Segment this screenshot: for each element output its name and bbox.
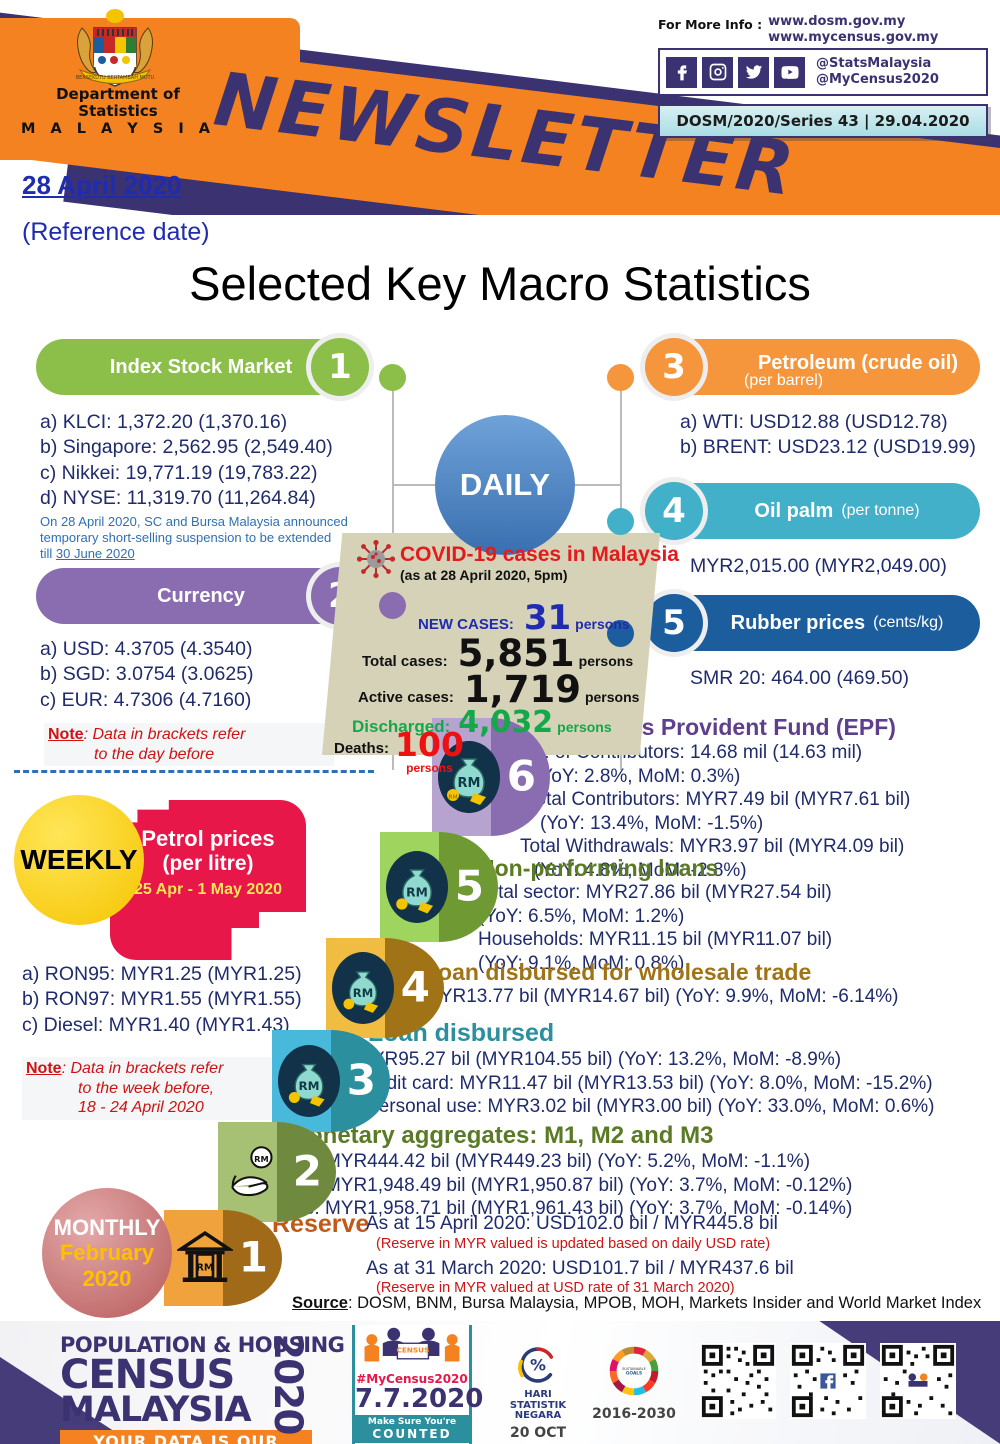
monthly-year: 2020 — [83, 1266, 132, 1291]
step-values-monetary: M1: MYR444.42 bil (MYR449.23 bil) (YoY: … — [288, 1150, 938, 1221]
step-heading-wholesale: Loan disbursed for wholesale trade — [424, 959, 811, 986]
page-title: Selected Key Macro Statistics — [0, 256, 1000, 311]
covid-unit: persons — [579, 653, 633, 669]
covid-title: COVID-19 cases in Malaysia — [400, 543, 679, 567]
card-subtitle-petroleum: (per barrel) — [744, 373, 823, 389]
svg-text:%: % — [530, 1355, 546, 1374]
social-media-box: @StatsMalaysia @MyCensus2020 — [658, 48, 988, 96]
sdg-wheel-icon: SUSTAINABLE GOALS — [608, 1345, 660, 1397]
petrol-period: 25 Apr - 1 May 2020 — [134, 881, 282, 899]
source-label: Source — [292, 1294, 348, 1312]
svg-text:RM: RM — [458, 776, 481, 791]
stat-line: SMR 20: 464.00 (469.50) — [690, 666, 1000, 691]
qr-code-facebook[interactable] — [790, 1343, 866, 1419]
covid-unit: persons — [585, 689, 639, 705]
money-bag-icon: RM — [332, 952, 394, 1024]
census-logo: POPULATION & HOUSING CENSUS MALAYSIA YOU… — [60, 1333, 360, 1444]
petrol-title: Petrol prices — [141, 826, 274, 852]
qr-code-dosm[interactable] — [700, 1343, 776, 1419]
monthly-label-circle: MONTHLY February 2020 — [42, 1188, 172, 1318]
note-text-line2: to the week before, — [78, 1079, 298, 1099]
covid-label: Active cases: — [358, 689, 454, 706]
source-line: Source: DOSM, BNM, Bursa Malaysia, MPOB,… — [292, 1294, 981, 1313]
mycensus-date: 7.7.2020 — [355, 1386, 469, 1412]
handle-statsmalaysia: @StatsMalaysia — [816, 56, 939, 72]
badge-3: 3 — [640, 333, 708, 401]
hari-line-3: NEGARA — [498, 1411, 578, 1422]
card-title-rubber: Rubber prices — [731, 612, 865, 635]
step-values-reserve: As at 15 April 2020: USD102.0 bil / MYR4… — [366, 1212, 986, 1298]
note-text-line1: Data in brackets refer — [92, 726, 245, 743]
step-4-wholesale-loan[interactable]: RM 4 — [326, 938, 444, 1038]
footnote-short-selling: On 28 April 2020, SC and Bursa Malaysia … — [40, 514, 390, 562]
counted-text: COUNTED — [357, 1427, 467, 1441]
monthly-label: MONTHLY — [54, 1215, 161, 1240]
stat-line: a) RON95: MYR1.25 (MYR1.25) — [22, 962, 362, 987]
source-text: : DOSM, BNM, Bursa Malaysia, MPOB, MOH, … — [348, 1294, 981, 1312]
more-info-block: For More Info : www.dosm.gov.my www.myce… — [658, 14, 988, 47]
malaysia-coat-of-arms-icon: BERSEKUTU BERTAMBAH MUTU — [52, 8, 178, 96]
money-bag-icon: RM — [386, 851, 448, 923]
step-number-4: 4 — [401, 963, 430, 1012]
step-number-1: 1 — [239, 1233, 268, 1282]
connector-dot-2 — [379, 592, 406, 619]
step-heading-npl: Non-performing loans — [478, 855, 718, 882]
covid-value: 100 — [395, 728, 464, 761]
step-5-npl[interactable]: RM 5 — [380, 832, 498, 942]
covid-unit: persons — [557, 719, 611, 735]
card-subtitle-oil-palm: (per tonne) — [841, 502, 919, 520]
youtube-icon[interactable] — [774, 57, 805, 88]
infographic-page: NEWSLETTER BERSEKUTU BERTAMBAH MUTU Depa… — [0, 0, 1000, 1444]
stat-line: (YoY: 2.8%, MoM: 0.3%) — [534, 765, 1000, 789]
stat-line: Credit card: MYR11.47 bil (MYR13.53 bil)… — [356, 1072, 976, 1096]
footnote-line: temporary short-selling suspension to be… — [40, 530, 390, 546]
svg-text:CENSUS: CENSUS — [396, 1345, 429, 1354]
note-text-line2: to the day before — [94, 745, 330, 765]
sdg-date-range: 2016-2030 — [588, 1406, 680, 1422]
footnote-line: till 30 June 2020 — [40, 546, 390, 562]
handle-mycensus2020: @MyCensus2020 — [816, 72, 939, 88]
svg-text:RM: RM — [448, 794, 457, 801]
badge-1: 1 — [306, 333, 374, 401]
step-number-2: 2 — [293, 1147, 322, 1196]
url-dosm[interactable]: www.dosm.gov.my — [768, 14, 905, 29]
census-line-3: MALAYSIA — [60, 1394, 360, 1427]
values-petrol: a) RON95: MYR1.25 (MYR1.25) b) RON97: MY… — [22, 962, 362, 1038]
note-daily: Note: Data in brackets refer to the day … — [44, 723, 334, 766]
footnote-line: On 28 April 2020, SC and Bursa Malaysia … — [40, 514, 390, 530]
series-badge: DOSM/2020/Series 43 | 29.04.2020 — [658, 104, 988, 138]
stat-line: As at 31 March 2020: USD101.7 bil / MYR4… — [366, 1257, 986, 1281]
covid-unit: persons — [575, 616, 629, 632]
mycensus-badge: CENSUS #MyCensus2020 7.7.2020 Make Sure … — [352, 1325, 472, 1444]
svg-text:GOALS: GOALS — [626, 1370, 642, 1376]
card-subtitle-rubber: (cents/kg) — [873, 614, 943, 632]
svg-text:RM: RM — [196, 1262, 213, 1273]
svg-text:BERSEKUTU BERTAMBAH MUTU: BERSEKUTU BERTAMBAH MUTU — [76, 75, 155, 81]
facebook-icon[interactable] — [666, 57, 697, 88]
covid-label: NEW CASES: — [418, 616, 514, 633]
petrol-subtitle: (per litre) — [162, 852, 253, 876]
stat-line: Total Contributors: MYR7.49 bil (MYR7.61… — [526, 788, 1000, 812]
stat-line: M1: MYR444.42 bil (MYR449.23 bil) (YoY: … — [288, 1150, 938, 1174]
card-currency[interactable]: Currency 2 — [36, 568, 366, 624]
card-index-stock-market[interactable]: Index Stock Market 1 — [36, 339, 366, 395]
card-oil-palm[interactable]: Oil palm (per tonne) 4 — [648, 483, 980, 539]
bank-icon: RM — [174, 1222, 236, 1294]
coronavirus-icon — [356, 539, 396, 579]
stat-line: MYR13.77 bil (MYR14.67 bil) (YoY: 9.9%, … — [424, 985, 984, 1009]
svg-text:RM: RM — [298, 1079, 319, 1093]
footer-banner: POPULATION & HOUSING CENSUS MALAYSIA YOU… — [0, 1318, 1000, 1444]
stat-line: MYR95.27 bil (MYR104.55 bil) (YoY: 13.2%… — [356, 1048, 976, 1072]
stat-line: MYR2,015.00 (MYR2,049.00) — [690, 554, 1000, 579]
percent-circle-icon: % — [507, 1345, 569, 1385]
step-number-3: 3 — [347, 1056, 376, 1105]
census-people-icon: CENSUS — [357, 1325, 467, 1367]
connector-dot-4 — [607, 508, 634, 535]
monthly-month: February — [60, 1240, 154, 1265]
hand-money-icon: RM — [224, 1136, 286, 1208]
covid-label: Deaths: — [334, 728, 389, 757]
stat-line: Households: MYR11.15 bil (MYR11.07 bil) — [478, 928, 978, 952]
note-weekly: Note: Data in brackets refer to the week… — [22, 1057, 302, 1120]
twitter-icon[interactable] — [738, 57, 769, 88]
org-name: Department of Statistics M A L A Y S I A — [18, 86, 218, 137]
step-number-6: 6 — [507, 752, 536, 801]
step-values-loan-disbursed: MYR95.27 bil (MYR104.55 bil) (YoY: 13.2%… — [356, 1048, 976, 1119]
covid-subtitle: (as at 28 April 2020, 5pm) — [400, 567, 568, 583]
values-oil-palm: MYR2,015.00 (MYR2,049.00) — [690, 554, 1000, 579]
hari-line-1: HARI — [498, 1390, 578, 1401]
social-handles: @StatsMalaysia @MyCensus2020 — [816, 56, 939, 89]
card-title-oil-palm: Oil palm — [754, 500, 833, 523]
website-urls: www.dosm.gov.my www.mycensus.gov.my — [768, 14, 938, 47]
stat-line: (YoY: 6.5%, MoM: 1.2%) — [478, 905, 978, 929]
url-mycensus[interactable]: www.mycensus.gov.my — [768, 30, 938, 45]
svg-text:SUSTAINABLE: SUSTAINABLE — [622, 1367, 646, 1371]
note-text-line1: Data in brackets refer — [70, 1060, 223, 1077]
daily-label-circle: DAILY — [435, 415, 575, 555]
weekly-label-circle: WEEKLY — [14, 795, 144, 925]
footnote-till: till — [40, 546, 56, 561]
connector-dot-1 — [379, 364, 406, 391]
svg-text:RM: RM — [406, 885, 428, 899]
stat-line: b) BRENT: USD23.12 (USD19.99) — [680, 435, 1000, 460]
stat-note-red: (Reserve in MYR valued is updated based … — [376, 1236, 986, 1254]
census-year: 2020 — [265, 1333, 310, 1434]
stat-line: Personal use: MYR3.02 bil (MYR3.00 bil) … — [366, 1095, 976, 1119]
covid-unit: persons — [406, 761, 453, 775]
stat-line: a) WTI: USD12.88 (USD12.78) — [680, 410, 1000, 435]
values-petroleum: a) WTI: USD12.88 (USD12.78) b) BRENT: US… — [680, 410, 1000, 461]
covid-row-deaths: Deaths: 100 persons — [334, 728, 464, 775]
note-text-line3: 18 - 24 April 2020 — [78, 1098, 298, 1118]
connector-dot-3 — [607, 364, 634, 391]
qr-code-census[interactable] — [880, 1343, 956, 1419]
card-title-petroleum: Petroleum (crude oil) — [758, 353, 958, 373]
org-name-line1: Department of Statistics — [18, 86, 218, 121]
covid-value: 4,032 — [458, 705, 553, 740]
note-label: Note — [26, 1060, 62, 1077]
reference-date: 28 April 2020 — [22, 170, 181, 201]
org-name-line2: M A L A Y S I A — [18, 121, 218, 138]
step-3-loan-disbursed[interactable]: RM 3 — [272, 1030, 390, 1132]
note-label: Note — [48, 726, 84, 743]
stat-line: a) KLCI: 1,372.20 (1,370.16) — [40, 410, 380, 435]
mycensus-counted: Make Sure You're COUNTED — [355, 1415, 469, 1443]
make-sure-text: Make Sure You're — [368, 1417, 456, 1427]
card-petroleum[interactable]: Petroleum (crude oil) (per barrel) 3 — [648, 339, 980, 395]
values-rubber: SMR 20: 464.00 (469.50) — [690, 666, 1000, 691]
stat-line: b) Singapore: 2,562.95 (2,549.40) — [40, 435, 380, 460]
stat-line: Total sector: MYR27.86 bil (MYR27.54 bil… — [478, 881, 978, 905]
card-rubber-prices[interactable]: Rubber prices (cents/kg) 5 — [648, 595, 980, 651]
footnote-date: 30 June 2020 — [56, 546, 135, 561]
step-values-wholesale: MYR13.77 bil (MYR14.67 bil) (YoY: 9.9%, … — [424, 985, 984, 1009]
card-title-currency: Currency — [157, 585, 245, 608]
census-line-2: CENSUS — [60, 1357, 360, 1394]
step-2-monetary-aggregates[interactable]: RM 2 — [218, 1122, 336, 1222]
card-title-index-stock-market: Index Stock Market — [110, 356, 292, 379]
hari-statistik-negara-logo: % HARI STATISTIK NEGARA 20 OCT — [498, 1345, 578, 1441]
sdg-wheel-logo: SUSTAINABLE GOALS 2016-2030 — [588, 1345, 680, 1422]
stat-line: a) USD: 4.3705 (4.3540) — [40, 637, 380, 662]
more-info-label: For More Info : — [658, 14, 762, 32]
instagram-icon[interactable] — [702, 57, 733, 88]
step-1-reserve[interactable]: RM 1 — [164, 1210, 282, 1306]
money-bag-icon: RM — [278, 1045, 340, 1117]
reference-date-sub: (Reference date) — [22, 218, 210, 247]
hari-date: 20 OCT — [498, 1425, 578, 1441]
stat-line: As at 15 April 2020: USD102.0 bil / MYR4… — [366, 1212, 986, 1236]
step-number-5: 5 — [455, 862, 484, 911]
stat-line: c) Nikkei: 19,771.19 (19,783.22) — [40, 461, 380, 486]
svg-text:RM: RM — [353, 986, 373, 1000]
values-index-stock-market: a) KLCI: 1,372.20 (1,370.16) b) Singapor… — [40, 410, 380, 511]
stat-line: d) NYSE: 11,319.70 (11,264.84) — [40, 486, 380, 511]
svg-text:RM: RM — [254, 1154, 269, 1164]
stat-line: M2: MYR1,948.49 bil (MYR1,950.87 bil) (Y… — [288, 1174, 938, 1198]
stat-line: (YoY: 13.4%, MoM: -1.5%) — [540, 812, 1000, 836]
stat-line: b) RON97: MYR1.55 (MYR1.55) — [22, 987, 362, 1012]
section-divider — [14, 770, 374, 773]
